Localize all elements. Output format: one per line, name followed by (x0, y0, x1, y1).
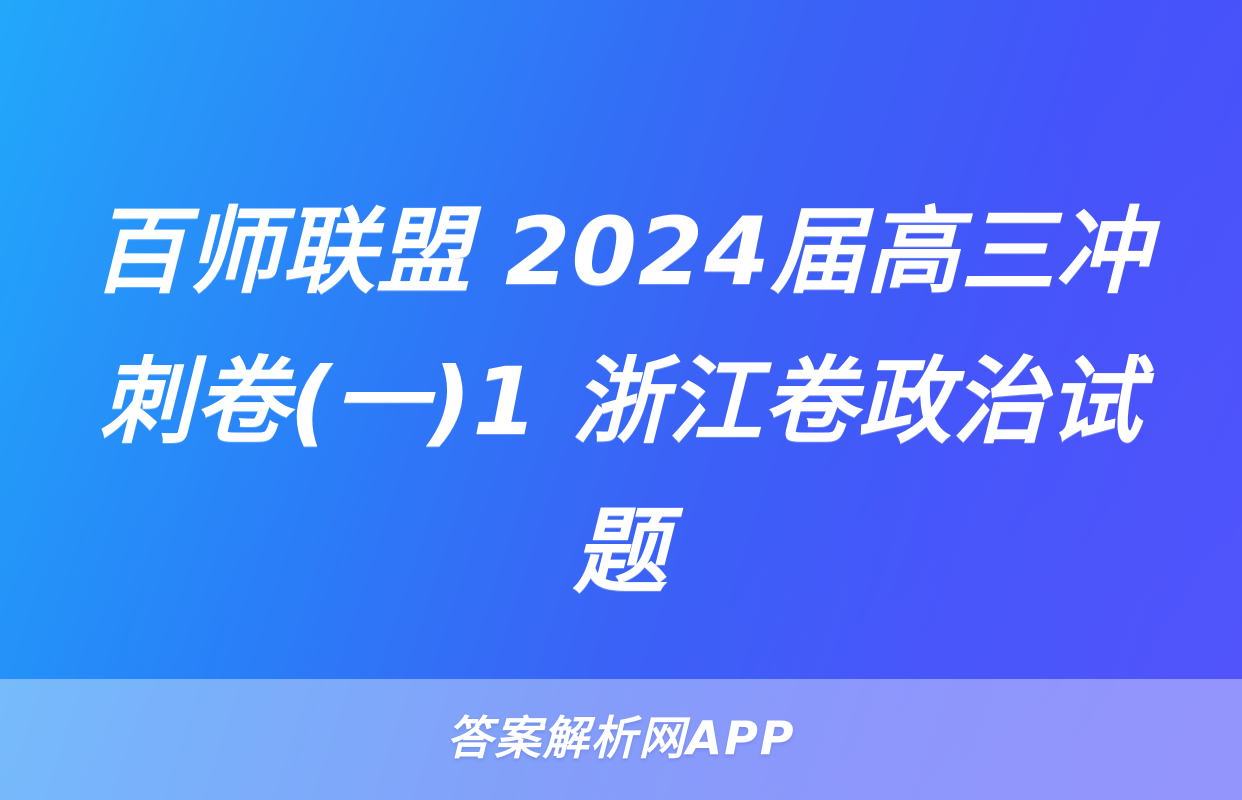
title-card: 百师联盟 2024届高三冲 刺卷(一)1 浙江卷政治试 题 答案解析网APP (0, 0, 1242, 800)
title-line-3: 题 (42, 478, 1200, 628)
title-line-1: 百师联盟 2024届高三冲 (42, 178, 1200, 328)
watermark-band: 答案解析网APP (0, 679, 1242, 800)
watermark-text: 答案解析网APP (446, 715, 795, 761)
page-title: 百师联盟 2024届高三冲 刺卷(一)1 浙江卷政治试 题 (0, 178, 1242, 628)
title-line-2: 刺卷(一)1 浙江卷政治试 (42, 328, 1200, 478)
